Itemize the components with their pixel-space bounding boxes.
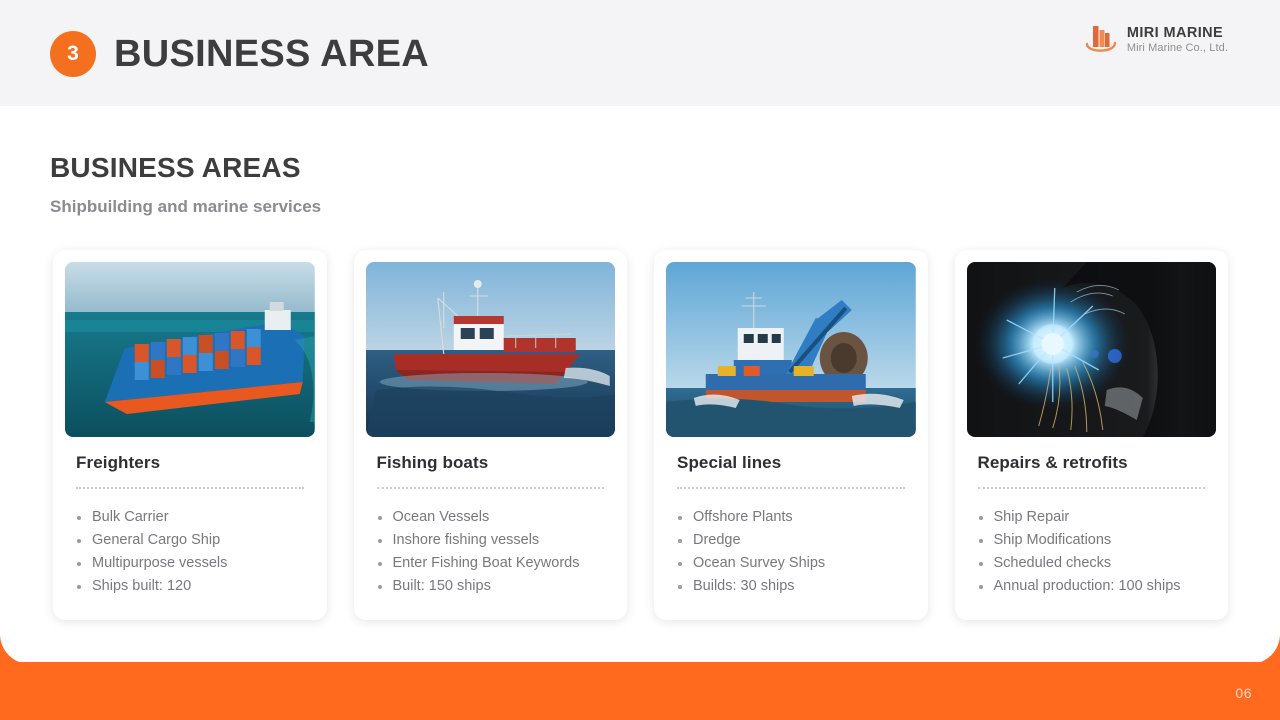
card-title: Freighters bbox=[76, 453, 315, 473]
list-item: Ship Repair bbox=[978, 506, 1206, 529]
business-area-card-grid: Freighters Bulk Carrier General Cargo Sh… bbox=[53, 250, 1228, 620]
card-divider bbox=[76, 487, 304, 489]
list-item: Built: 150 ships bbox=[377, 575, 605, 598]
welding-photo bbox=[967, 262, 1217, 437]
list-item: Ocean Survey Ships bbox=[677, 552, 905, 575]
content-panel: 3 BUSINESS AREA MIRI MARINE Miri Marine … bbox=[0, 0, 1280, 664]
section-subtitle: Shipbuilding and marine services bbox=[50, 197, 321, 217]
page-number: 06 bbox=[1235, 685, 1252, 701]
header-title-group: 3 BUSINESS AREA bbox=[50, 31, 429, 77]
card-item-list: Ship Repair Ship Modifications Scheduled… bbox=[978, 506, 1206, 598]
list-item: Multipurpose vessels bbox=[76, 552, 304, 575]
business-area-card[interactable]: Fishing boats Ocean Vessels Inshore fish… bbox=[354, 250, 628, 620]
card-item-list: Offshore Plants Dredge Ocean Survey Ship… bbox=[677, 506, 905, 598]
card-divider bbox=[677, 487, 905, 489]
dredger-ship-photo bbox=[666, 262, 916, 437]
card-title: Repairs & retrofits bbox=[978, 453, 1217, 473]
list-item: Annual production: 100 ships bbox=[978, 575, 1206, 598]
card-title: Special lines bbox=[677, 453, 916, 473]
page-title: BUSINESS AREA bbox=[114, 35, 429, 73]
list-item: Dredge bbox=[677, 529, 905, 552]
list-item: Inshore fishing vessels bbox=[377, 529, 605, 552]
list-item: General Cargo Ship bbox=[76, 529, 304, 552]
business-area-card[interactable]: Repairs & retrofits Ship Repair Ship Mod… bbox=[955, 250, 1229, 620]
card-divider bbox=[978, 487, 1206, 489]
card-title: Fishing boats bbox=[377, 453, 616, 473]
card-item-list: Ocean Vessels Inshore fishing vessels En… bbox=[377, 506, 605, 598]
list-item: Ocean Vessels bbox=[377, 506, 605, 529]
slide: 3 BUSINESS AREA MIRI MARINE Miri Marine … bbox=[0, 0, 1280, 720]
section-number-badge: 3 bbox=[50, 31, 96, 77]
list-item: Scheduled checks bbox=[978, 552, 1206, 575]
brand-subtitle: Miri Marine Co., Ltd. bbox=[1127, 42, 1228, 55]
list-item: Enter Fishing Boat Keywords bbox=[377, 552, 605, 575]
business-area-card[interactable]: Freighters Bulk Carrier General Cargo Sh… bbox=[53, 250, 327, 620]
brand-logo: MIRI MARINE Miri Marine Co., Ltd. bbox=[1084, 22, 1228, 58]
slide-header: 3 BUSINESS AREA MIRI MARINE Miri Marine … bbox=[0, 0, 1280, 106]
card-item-list: Bulk Carrier General Cargo Ship Multipur… bbox=[76, 506, 304, 598]
list-item: Offshore Plants bbox=[677, 506, 905, 529]
fishing-boat-photo bbox=[366, 262, 616, 437]
list-item: Builds: 30 ships bbox=[677, 575, 905, 598]
container-ship-photo bbox=[65, 262, 315, 437]
business-area-card[interactable]: Special lines Offshore Plants Dredge Oce… bbox=[654, 250, 928, 620]
slide-footer: 06 bbox=[0, 662, 1280, 720]
miri-marine-logo-icon bbox=[1084, 22, 1118, 58]
list-item: Ship Modifications bbox=[978, 529, 1206, 552]
list-item: Bulk Carrier bbox=[76, 506, 304, 529]
list-item: Ships built: 120 bbox=[76, 575, 304, 598]
brand-name: MIRI MARINE bbox=[1127, 25, 1228, 42]
brand-text: MIRI MARINE Miri Marine Co., Ltd. bbox=[1127, 25, 1228, 55]
section-title: BUSINESS AREAS bbox=[50, 152, 301, 184]
card-divider bbox=[377, 487, 605, 489]
